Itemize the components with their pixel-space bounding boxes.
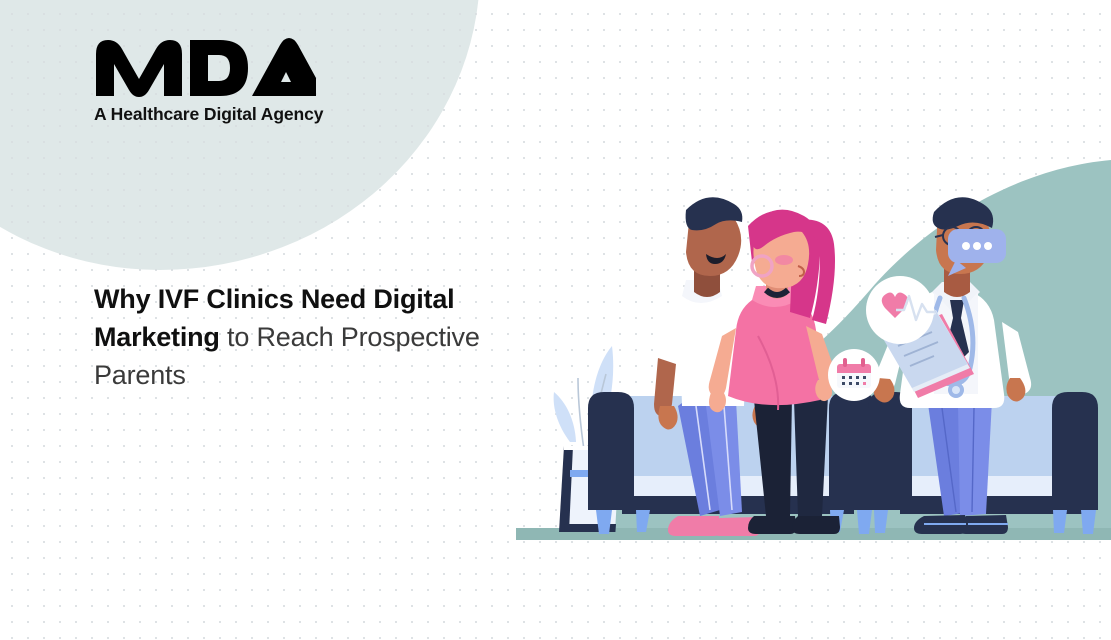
brand-lockup: A Healthcare Digital Agency [94,38,323,125]
ivf-clinic-consultation-illustration [500,150,1111,550]
mda-wordmark-logo [94,38,316,98]
page-title: Why IVF Clinics Need Digital Marketing t… [94,280,524,394]
hero-banner: A Healthcare Digital Agency Why IVF Clin… [0,0,1111,640]
calendar-badge-icon [828,349,880,401]
brand-tagline: A Healthcare Digital Agency [94,104,323,125]
